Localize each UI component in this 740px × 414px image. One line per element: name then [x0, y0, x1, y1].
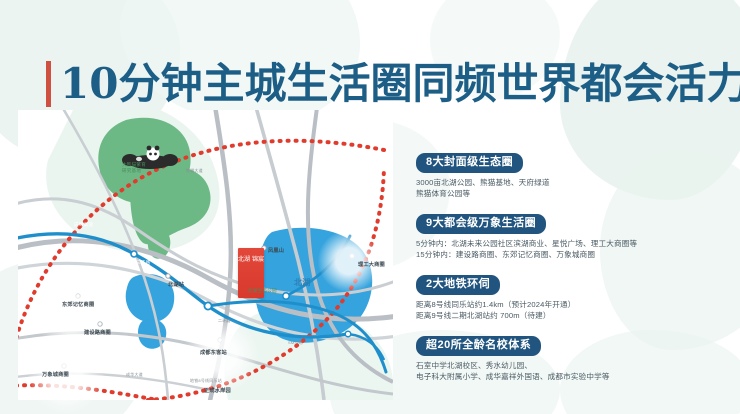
feature-description-line: 3000亩北湖公园、熊猫基地、天府绿道: [416, 177, 726, 188]
feature-badge: 超20所全龄名校体系: [416, 336, 541, 356]
map-label: 大熊猫繁育 研究基地: [122, 162, 146, 173]
feature-description-line: 距离8号线同乐站约1.4km（预计2024年开通）: [416, 299, 726, 310]
title-accent-bar: [46, 61, 51, 107]
feature-description: 3000亩北湖公园、熊猫基地、天府绿道熊猫体育公园等: [416, 177, 726, 199]
map-label: 理工大商圈: [358, 262, 385, 269]
feature-description: 5分钟内：北湖未来公园社区滨湖商业、星悦广场、理工大商圈等15分钟内：建设路商圈…: [416, 238, 726, 260]
feature-badge: 2大地铁环伺: [416, 275, 500, 295]
feature-description: 石室中学北湖校区、秀水幼儿园、电子科大附属小学、成华嘉祥外国语、成都市实验中学等: [416, 360, 726, 382]
feature-block: 8大封面级生态圈3000亩北湖公园、熊猫基地、天府绿道熊猫体育公园等: [416, 152, 726, 199]
feature-description-line: 15分钟内：建设路商圈、东郊记忆商圈、万象城商圈: [416, 249, 726, 260]
poster-canvas: 10分钟主城生活圈同频世界都会活力: [0, 0, 740, 414]
map-label: 三环路: [136, 260, 150, 266]
feature-description-line: 熊猫体育公园等: [416, 188, 726, 199]
feature-description: 距离8号线同乐站约1.4km（预计2024年开通）距离9号线二期北湖站约 700…: [416, 299, 726, 321]
feature-description-line: 电子科大附属小学、成华嘉祥外国语、成都市实验中学等: [416, 371, 726, 382]
map-label: 成绵高速: [74, 222, 93, 228]
map-label: 凤凰山: [268, 248, 284, 255]
feature-description-line: 石室中学北湖校区、秀水幼儿园、: [416, 360, 726, 371]
feature-block: 超20所全龄名校体系石室中学北湖校区、秀水幼儿园、电子科大附属小学、成华嘉祥外国…: [416, 335, 726, 382]
feature-description-line: 距离9号线二期北湖站约 700m（待建）: [416, 310, 726, 321]
map-label: 地铁8号线同乐站: [190, 378, 222, 383]
feature-description-line: 5分钟内：北湖未来公园社区滨湖商业、星悦广场、理工大商圈等: [416, 238, 726, 249]
map-label: 东郊记忆商圈: [62, 302, 94, 309]
map-label: 正成水岸园: [204, 388, 231, 395]
feature-block: 9大都会级万象生活圈5分钟内：北湖未来公园社区滨湖商业、星悦广场、理工大商圈等1…: [416, 213, 726, 260]
map-label: 二环路: [218, 318, 231, 323]
location-map: 北湖 锦宸 北湖 大熊猫繁育 研究基地熊猫大道成绵高速三环路北湖站北湖生态公园凤…: [18, 110, 393, 400]
page-title: 10分钟主城生活圈同频世界都会活力: [60, 63, 740, 105]
map-label: 建设路商圈: [84, 330, 111, 337]
feature-list: 8大封面级生态圈3000亩北湖公园、熊猫基地、天府绿道熊猫体育公园等9大都会级万…: [416, 152, 726, 382]
feature-badge: 8大封面级生态圈: [416, 153, 523, 173]
map-label: 熊猫大道: [186, 168, 203, 173]
map-label: 北湖生态公园: [248, 288, 277, 294]
project-marker-label: 北湖 锦宸: [238, 256, 264, 264]
feature-badge: 9大都会级万象生活圈: [416, 214, 546, 234]
feature-block: 2大地铁环伺距离8号线同乐站约1.4km（预计2024年开通）距离9号线二期北湖…: [416, 274, 726, 321]
map-label: 万象城商圈: [42, 372, 69, 379]
map-label: 成华大道: [126, 372, 143, 377]
map-label-lake: 北湖: [294, 278, 310, 288]
map-label: SM广场: [288, 340, 303, 345]
poster-title-row: 10分钟主城生活圈同频世界都会活力: [46, 56, 740, 112]
map-label: 成都东客站: [200, 350, 227, 357]
map-graphic: [18, 110, 393, 400]
map-label: 北湖站: [168, 282, 184, 289]
